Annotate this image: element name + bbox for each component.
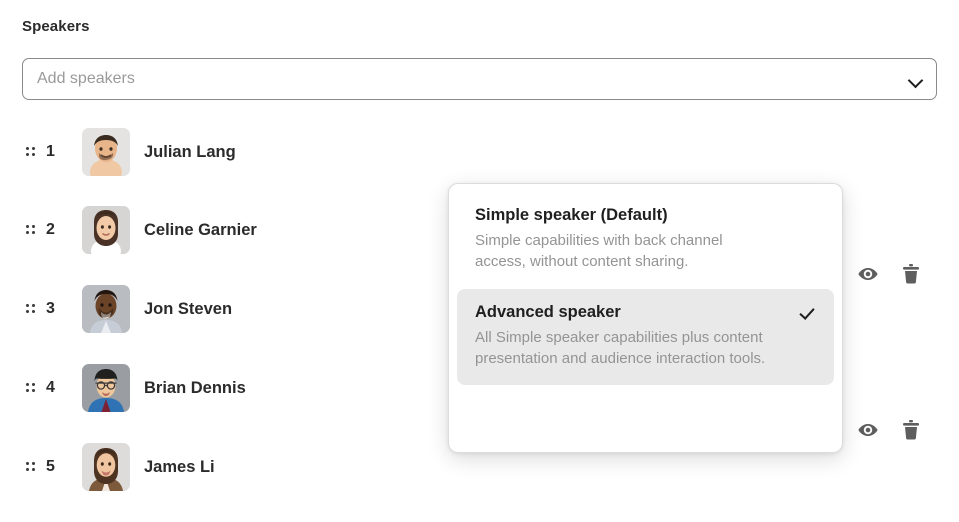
speaker-name: Jon Steven — [144, 300, 232, 319]
drag-handle-icon[interactable] — [26, 301, 38, 317]
list-item: 1 Julian Lang Advanced — [0, 122, 959, 182]
speaker-name: James Li — [144, 458, 215, 477]
avatar — [82, 128, 130, 176]
row-index: 5 — [46, 458, 68, 476]
row-index: 1 — [46, 143, 68, 161]
check-icon — [800, 304, 818, 322]
avatar — [82, 364, 130, 412]
speaker-name: Brian Dennis — [144, 379, 246, 398]
speakers-panel: Speakers Add speakers 1 Julian Lang Adva… — [0, 0, 959, 522]
menu-item-title: Advanced speaker — [475, 303, 816, 322]
avatar — [82, 443, 130, 491]
drag-handle-icon[interactable] — [26, 144, 38, 160]
menu-item-simple-speaker[interactable]: Simple speaker (Default) Simple capabili… — [457, 192, 834, 289]
speaker-name: Julian Lang — [144, 143, 236, 162]
role-dropdown-menu: Simple speaker (Default) Simple capabili… — [448, 183, 843, 453]
row-index: 2 — [46, 221, 68, 239]
drag-handle-icon[interactable] — [26, 222, 38, 238]
row-index: 4 — [46, 379, 68, 397]
menu-item-advanced-speaker[interactable]: Advanced speaker All Simple speaker capa… — [457, 289, 834, 386]
drag-handle-icon[interactable] — [26, 459, 38, 475]
speaker-name: Celine Garnier — [144, 221, 257, 240]
menu-item-description: Simple capabilities with back channel ac… — [475, 230, 775, 273]
avatar — [82, 206, 130, 254]
avatar — [82, 285, 130, 333]
drag-handle-icon[interactable] — [26, 380, 38, 396]
menu-item-description: All Simple speaker capabilities plus con… — [475, 327, 775, 370]
menu-item-title: Simple speaker (Default) — [475, 206, 816, 225]
row-index: 3 — [46, 300, 68, 318]
